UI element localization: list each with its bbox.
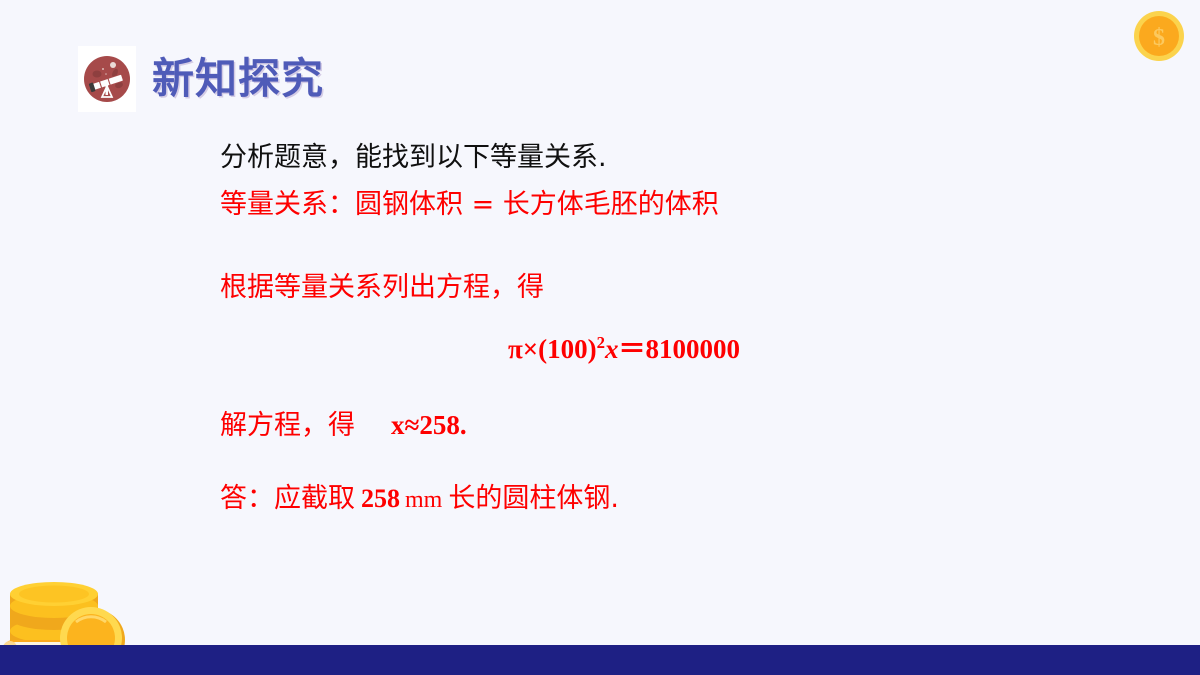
equation-expression: π×(100)2x＝8100000 bbox=[508, 334, 740, 364]
svg-text:$: $ bbox=[1153, 25, 1165, 51]
equation-variable: x bbox=[605, 334, 619, 364]
solve-label: 解方程，得 bbox=[220, 412, 355, 439]
answer-unit: mm bbox=[405, 488, 442, 512]
setup-text: 根据等量关系列出方程，得 bbox=[220, 274, 980, 301]
coin-dollar-icon: $ bbox=[1133, 10, 1185, 62]
equation-equals: ＝ bbox=[619, 334, 646, 364]
equation-base: (100) bbox=[538, 334, 596, 364]
answer-prefix: 答：应截取 bbox=[220, 485, 355, 512]
content-body: 分析题意，能找到以下等量关系. 等量关系：圆钢体积 = 长方体毛胚的体积 根据等… bbox=[220, 144, 980, 512]
header-icon-frame bbox=[78, 46, 136, 112]
page-title: 新知探究 bbox=[152, 58, 324, 100]
slide-canvas: 新知探究 分析题意，能找到以下等量关系. 等量关系：圆钢体积 = 长方体毛胚的体… bbox=[0, 0, 1200, 675]
equation-result: 8100000 bbox=[646, 334, 741, 364]
solve-row: 解方程，得 x≈258. bbox=[220, 412, 980, 439]
equation-times: × bbox=[523, 334, 538, 364]
answer-number: 258 bbox=[361, 486, 400, 512]
relation-text: 等量关系：圆钢体积 = 长方体毛胚的体积 bbox=[220, 191, 980, 218]
answer-suffix: 长的圆柱体钢. bbox=[448, 485, 619, 512]
bottom-bar bbox=[0, 645, 1200, 675]
equation-pi: π bbox=[508, 334, 523, 364]
equation-row: π×(100)2x＝8100000 bbox=[220, 327, 980, 366]
equation-exponent: 2 bbox=[597, 333, 605, 352]
telescope-icon bbox=[82, 54, 132, 104]
slide-header: 新知探究 bbox=[78, 46, 324, 112]
solve-value: x≈258. bbox=[391, 412, 467, 439]
intro-text: 分析题意，能找到以下等量关系. bbox=[220, 144, 980, 171]
answer-row: 答：应截取 258 mm 长的圆柱体钢. bbox=[220, 485, 980, 512]
